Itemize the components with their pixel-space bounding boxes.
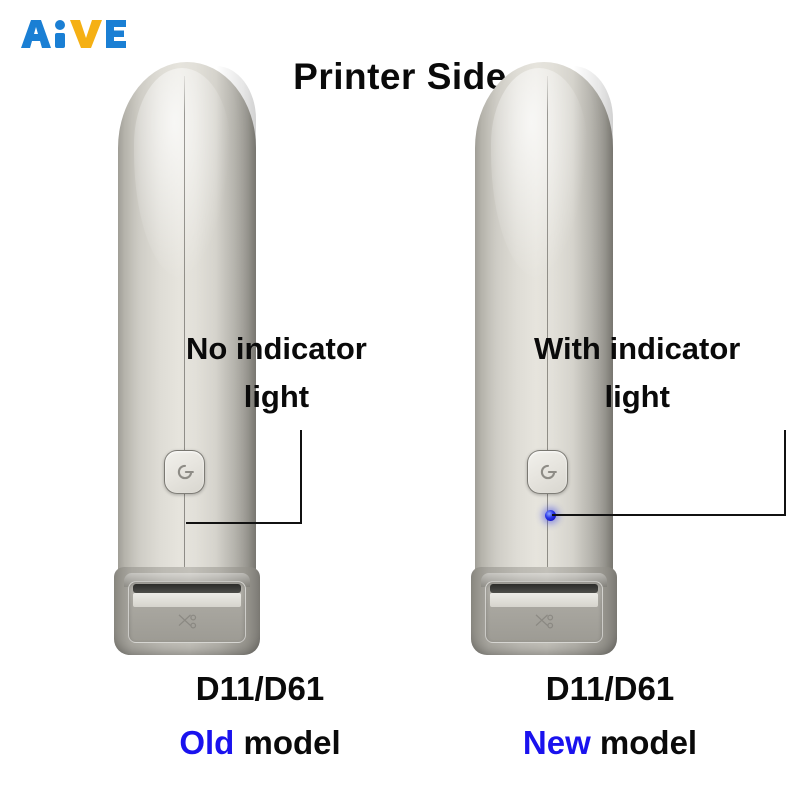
paper-exit-slot <box>128 581 246 643</box>
logo-letter-i-dot <box>55 20 65 30</box>
model-label-new: D11/D61 New model <box>460 670 760 762</box>
slot-paper <box>490 593 598 607</box>
callout-new-model: With indicator light <box>534 325 740 421</box>
scissors-icon <box>533 614 555 630</box>
callout-old-model: No indicator light <box>186 325 367 421</box>
model-kind-rest: model <box>591 724 697 761</box>
callout-line-1: With indicator <box>534 331 740 366</box>
logo-letter-e <box>106 20 126 48</box>
device-seam-line <box>184 76 185 607</box>
slot-paper <box>133 593 241 607</box>
model-code: D11/D61 <box>460 670 760 708</box>
aive-logo <box>18 14 128 54</box>
model-kind: New model <box>460 724 760 762</box>
leader-vertical <box>784 430 786 514</box>
leader-horizontal <box>186 522 302 524</box>
leader-vertical <box>300 430 302 522</box>
model-kind: Old model <box>110 724 410 762</box>
slot-opening <box>133 584 241 593</box>
leader-line-old-model <box>186 430 302 524</box>
model-kind-rest: model <box>234 724 340 761</box>
logo-letter-v <box>70 20 102 48</box>
callout-line-2: light <box>186 373 367 421</box>
device-gloss <box>491 68 587 278</box>
device-base <box>471 567 617 655</box>
scissors-icon <box>176 614 198 630</box>
callout-line-1: No indicator <box>186 331 367 366</box>
leader-line-new-model <box>552 430 786 516</box>
callout-line-2: light <box>534 373 740 421</box>
model-kind-highlight: Old <box>179 724 234 761</box>
comparison-figure: Printer Side <box>0 0 800 800</box>
device-gloss <box>134 68 230 278</box>
model-code: D11/D61 <box>110 670 410 708</box>
model-label-old: D11/D61 Old model <box>110 670 410 762</box>
logo-letter-i-stem <box>55 33 65 48</box>
logo-letter-a <box>21 20 51 48</box>
leader-horizontal <box>552 514 786 516</box>
device-base <box>114 567 260 655</box>
slot-opening <box>490 584 598 593</box>
paper-exit-slot <box>485 581 603 643</box>
model-kind-highlight: New <box>523 724 591 761</box>
